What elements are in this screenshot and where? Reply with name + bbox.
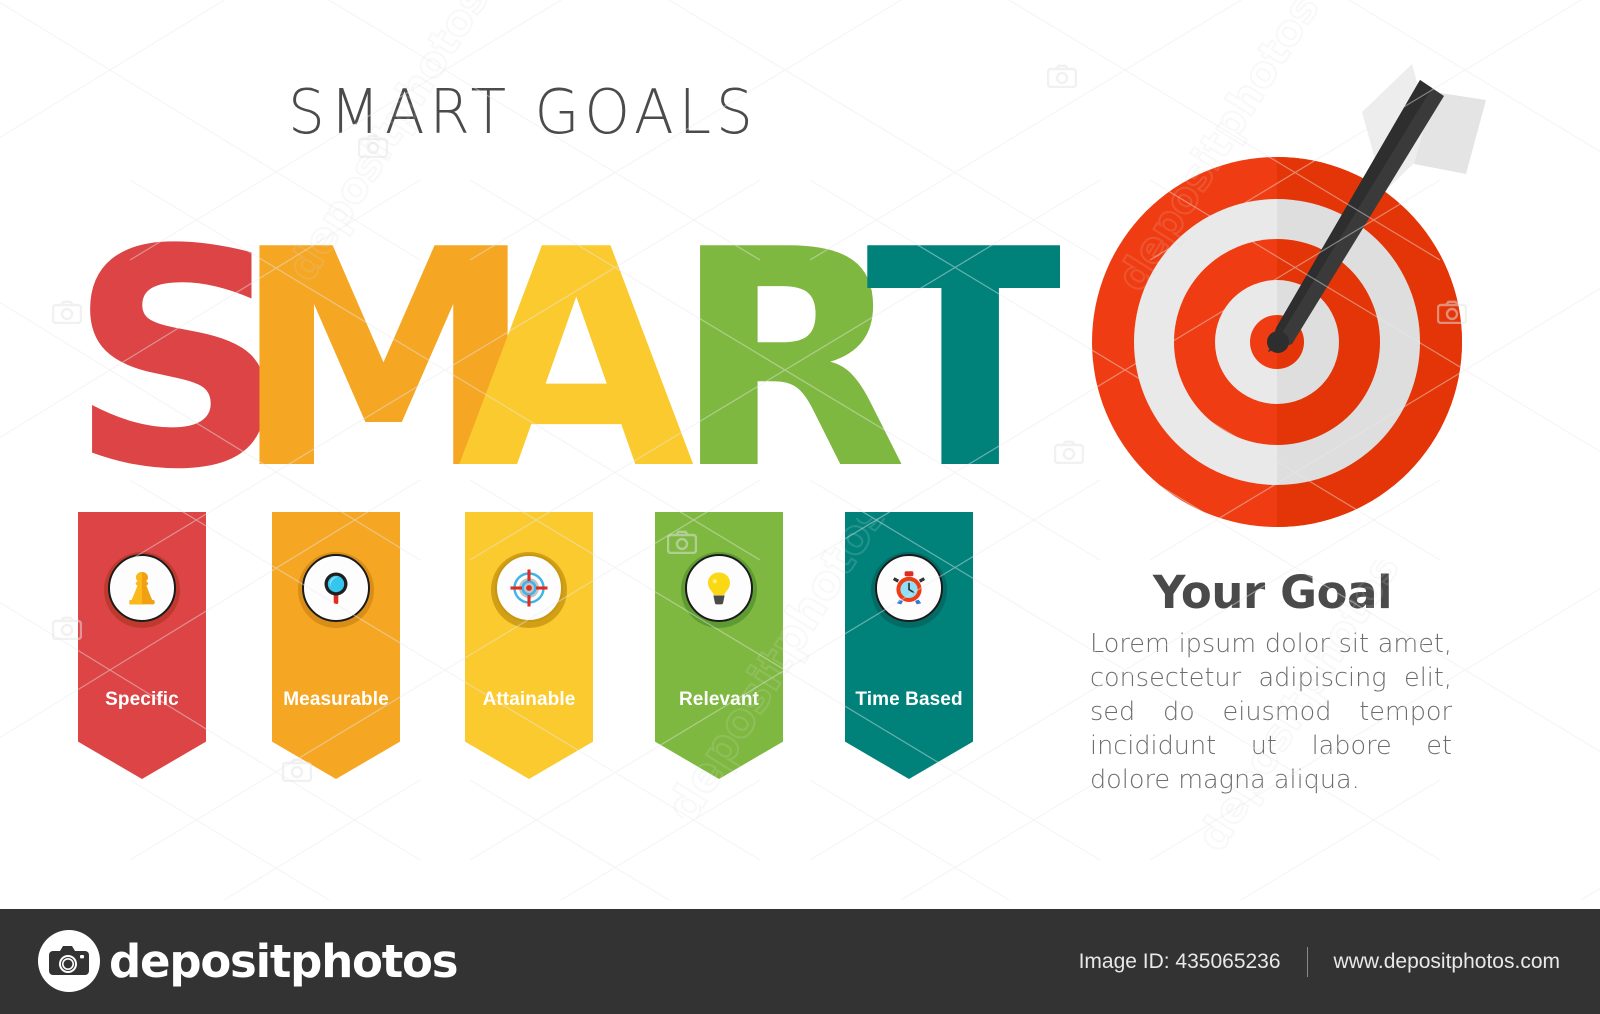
depositphotos-logo[interactable]: depositphotos — [38, 930, 457, 992]
infographic-canvas: depositphotos depositphotos depositphoto… — [0, 0, 1600, 1014]
ribbon-relevant[interactable]: Relevant — [655, 512, 783, 779]
ribbon-badge — [871, 552, 947, 628]
ribbon-badge — [104, 552, 180, 628]
ribbon-label: Relevant — [655, 687, 783, 712]
ribbon-measurable[interactable]: Measurable — [272, 512, 400, 779]
ribbon-attainable[interactable]: Attainable — [465, 512, 593, 779]
ribbon-label: Measurable — [272, 687, 400, 712]
website-link[interactable]: www.depositphotos.com — [1334, 950, 1560, 974]
goal-heading: Your Goal — [1090, 566, 1455, 619]
ribbon-label: Attainable — [465, 687, 593, 712]
smart-criteria-list: Specific Measurable — [0, 0, 1060, 800]
alarm-clock-icon — [875, 554, 943, 622]
ribbon-label: Specific — [78, 687, 206, 712]
ribbon-time-based[interactable]: Time Based — [845, 512, 973, 779]
lightbulb-icon — [685, 554, 753, 622]
ribbon-badge — [298, 552, 374, 628]
target-with-arrow-icon — [1062, 52, 1492, 532]
ribbon-badge — [681, 552, 757, 628]
footer-bar: depositphotos Image ID: 435065236 www.de… — [0, 909, 1600, 1014]
ribbon-specific[interactable]: Specific — [78, 512, 206, 779]
ribbon-label: Time Based — [845, 687, 973, 712]
chess-pawn-icon — [108, 554, 176, 622]
image-id-label: Image ID: 435065236 — [1079, 950, 1281, 974]
camera-icon — [38, 930, 100, 992]
goal-body-text: Lorem ipsum dolor sit amet, consectetur … — [1090, 627, 1452, 797]
footer-divider — [1307, 947, 1308, 977]
brand-wordmark: depositphotos — [109, 935, 457, 988]
footer-meta: Image ID: 435065236 www.depositphotos.co… — [1079, 909, 1560, 1014]
magnifying-glass-icon — [302, 554, 370, 622]
crosshair-target-icon — [495, 554, 563, 622]
ribbon-badge — [491, 552, 567, 628]
